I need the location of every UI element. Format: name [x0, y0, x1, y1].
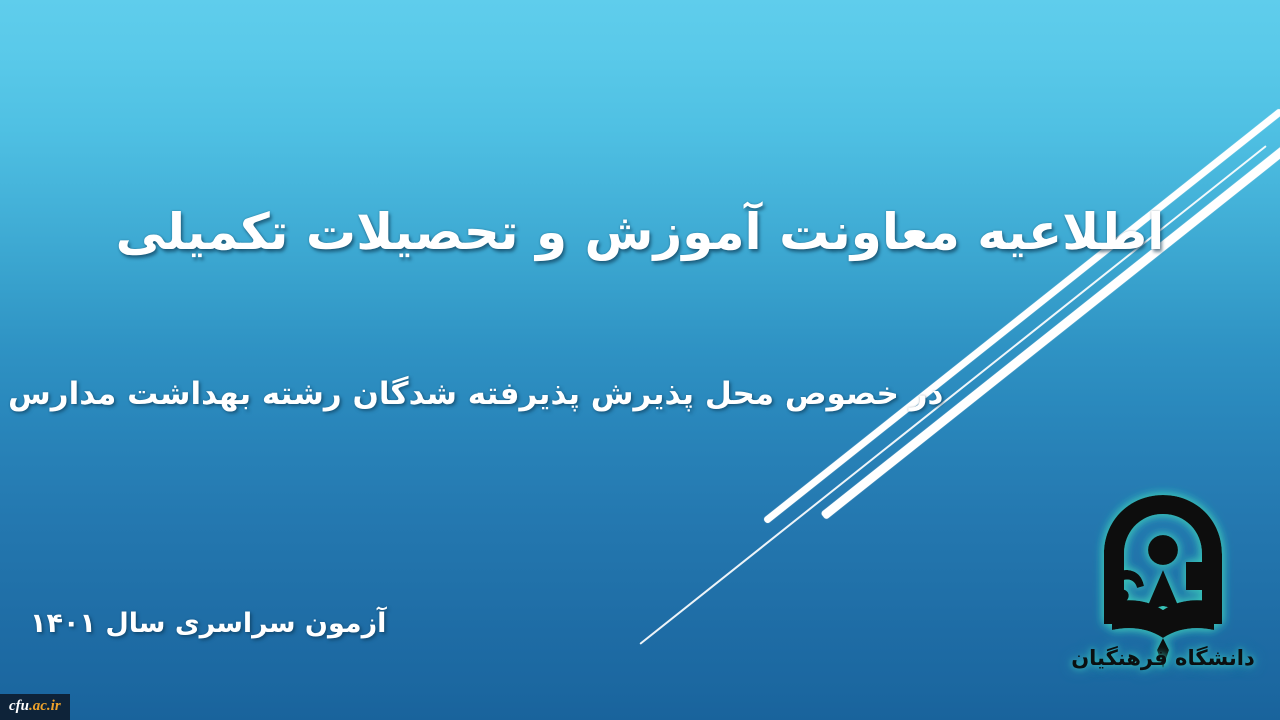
university-name-label: دانشگاه فرهنگیان: [1068, 646, 1258, 670]
exam-year-label: آزمون سراسری سال ۱۴۰۱: [30, 608, 386, 639]
announcement-slide: اطلاعیه معاونت آموزش و تحصیلات تکمیلی در…: [0, 0, 1280, 720]
watermark-domain: .ac.ir: [29, 698, 61, 714]
watermark-prefix: cfu: [9, 698, 29, 714]
university-logo: دانشگاه فرهنگیان: [1068, 478, 1258, 678]
site-watermark-badge: cfu.ac.ir: [0, 694, 70, 720]
emblem-mark-icon: [1104, 495, 1222, 668]
page-title: اطلاعیه معاونت آموزش و تحصیلات تکمیلی: [60, 202, 1220, 263]
page-subtitle: در خصوص محل پذیرش پذیرفته شدگان رشته بهد…: [8, 374, 1240, 414]
